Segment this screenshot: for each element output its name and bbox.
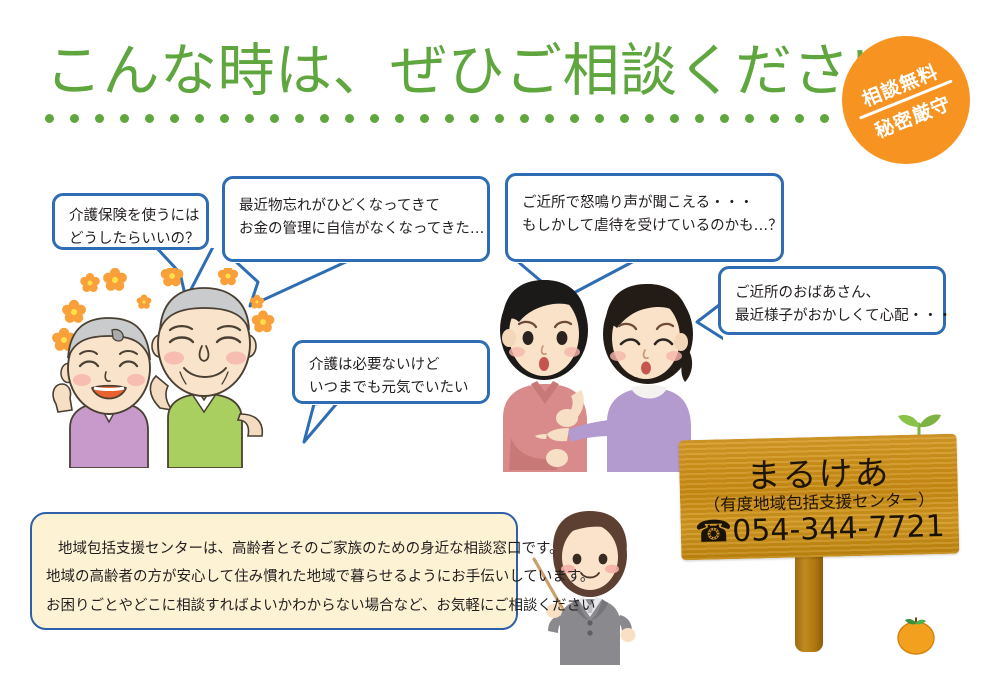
- woman-left-pink: [500, 280, 588, 472]
- divider-dot: [520, 114, 529, 123]
- bubble-obaasan: ご近所のおばあさん、 最近様子がおかしくて心配・・・: [718, 266, 946, 335]
- divider-dot: [495, 114, 504, 123]
- divider-dot: [345, 114, 354, 123]
- divider-dot: [320, 114, 329, 123]
- bubble-line: 介護は必要ないけど: [309, 354, 473, 377]
- organization-sign: まるけあ （有度地域包括支援センター） ☎054-344-7721: [679, 434, 960, 561]
- divider-dot: [45, 114, 54, 123]
- grandpa-figure: [150, 288, 262, 468]
- bubble-line: お金の管理に自信がなくなってきた…: [239, 218, 473, 241]
- divider-dot: [70, 114, 79, 123]
- divider-dot: [470, 114, 479, 123]
- bubble-line: 最近物忘れがひどくなってきて: [239, 195, 473, 218]
- divider-dot: [245, 114, 254, 123]
- bubble-donarigoe: ご近所で怒鳴り声が聞こえる・・・ もしかして虐待を受けているのかも…？: [505, 173, 784, 262]
- woman-with-pointer-illustration: [530, 505, 650, 665]
- page-title: こんな時は、ぜひご相談ください: [45, 42, 908, 102]
- divider-dot: [570, 114, 579, 123]
- info-description-box: 地域包括支援センターは、高齢者とそのご家族のための身近な相談窓口です。 地域の高…: [30, 512, 518, 630]
- bubble-line: ご近所で怒鳴り声が聞こえる・・・: [522, 192, 767, 215]
- divider-dot: [145, 114, 154, 123]
- divider-dot: [295, 114, 304, 123]
- divider-dot: [820, 114, 829, 123]
- divider-dot: [745, 114, 754, 123]
- elderly-couple-illustration: [52, 268, 292, 468]
- bubble-genki: 介護は必要ないけど いつまでも元気でいたい: [292, 340, 490, 404]
- divider-dot: [720, 114, 729, 123]
- info-line: 地域包括支援センターは、高齢者とそのご家族のための身近な相談窓口です。: [46, 535, 500, 563]
- divider-dot: [445, 114, 454, 123]
- title-dotted-divider: [45, 114, 905, 126]
- bubble-line: もしかして虐待を受けているのかも…？: [522, 215, 767, 238]
- divider-dot: [620, 114, 629, 123]
- bubble-kaigo-hoken: 介護保険を使うには どうしたらいいの？: [52, 193, 209, 250]
- divider-dot: [195, 114, 204, 123]
- bubble-genki-tail: [300, 400, 380, 450]
- divider-dot: [370, 114, 379, 123]
- divider-dot: [595, 114, 604, 123]
- divider-dot: [395, 114, 404, 123]
- bubble-line: どうしたらいいの？: [69, 228, 192, 251]
- bubble-line: 介護保険を使うには: [69, 205, 192, 228]
- divider-dot: [695, 114, 704, 123]
- bubble-monowasure: 最近物忘れがひどくなってきて お金の管理に自信がなくなってきた…: [222, 176, 490, 262]
- divider-dot: [545, 114, 554, 123]
- divider-dot: [220, 114, 229, 123]
- divider-dot: [120, 114, 129, 123]
- telephone-number[interactable]: ☎054-344-7721: [680, 509, 959, 551]
- divider-dot: [795, 114, 804, 123]
- divider-dot: [420, 114, 429, 123]
- divider-dot: [270, 114, 279, 123]
- orange-fruit-icon: [893, 612, 939, 656]
- bubble-line: ご近所のおばあさん、: [735, 282, 929, 305]
- divider-dot: [95, 114, 104, 123]
- divider-dot: [645, 114, 654, 123]
- bubble-line: 最近様子がおかしくて心配・・・: [735, 305, 929, 328]
- divider-dot: [170, 114, 179, 123]
- divider-dot: [670, 114, 679, 123]
- divider-dot: [770, 114, 779, 123]
- info-line: 地域の高齢者の方が安心して住み慣れた地域で暮らせるようにお手伝いしています。: [46, 563, 500, 591]
- poster-canvas: こんな時は、ぜひご相談ください 相談無料 秘密厳守 介護保険を使うには どうした…: [0, 0, 991, 700]
- bubble-line: いつまでも元気でいたい: [309, 377, 473, 400]
- info-line: お困りごとやどこに相談すればよいかわからない場合など、お気軽にご相談ください: [46, 592, 500, 620]
- free-consultation-badge: 相談無料 秘密厳守: [842, 36, 970, 164]
